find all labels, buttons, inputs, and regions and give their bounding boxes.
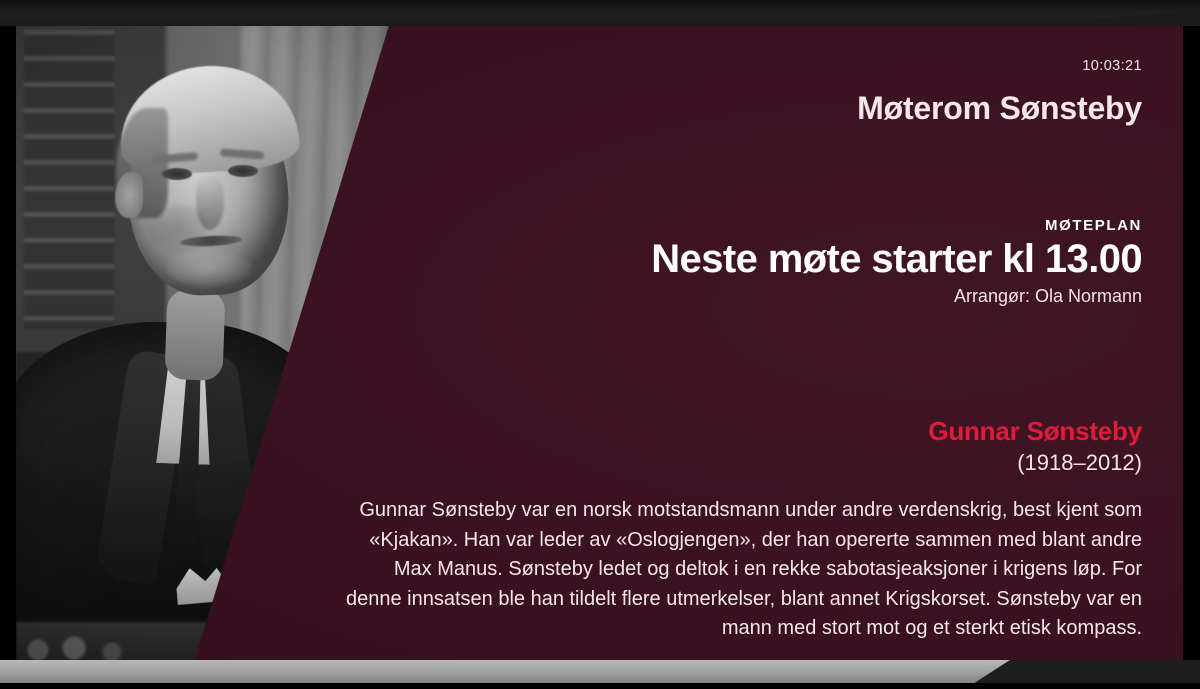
meeting-organizer: Arrangør: Ola Normann xyxy=(651,286,1142,307)
signage-screen: Credit: NTB 10:03:21 Møterom Sønsteby MØ… xyxy=(0,0,1200,689)
meeting-headline: Neste møte starter kl 13.00 xyxy=(651,238,1142,280)
top-bezel xyxy=(0,0,1200,26)
person-info: Gunnar Sønsteby (1918–2012) xyxy=(928,416,1142,476)
person-biography: Gunnar Sønsteby var en norsk motstandsma… xyxy=(342,496,1142,644)
person-name: Gunnar Sønsteby xyxy=(928,416,1142,447)
person-years: (1918–2012) xyxy=(928,450,1142,476)
meeting-kicker: MØTEPLAN xyxy=(651,217,1142,234)
room-title: Møterom Sønsteby xyxy=(857,90,1142,127)
content-panel: Credit: NTB 10:03:21 Møterom Sønsteby MØ… xyxy=(16,22,1183,662)
top-bezel-inner xyxy=(0,0,1200,26)
clock: 10:03:21 xyxy=(1082,58,1142,74)
meeting-info: MØTEPLAN Neste møte starter kl 13.00 Arr… xyxy=(651,217,1142,307)
bottom-edge xyxy=(0,683,1200,689)
